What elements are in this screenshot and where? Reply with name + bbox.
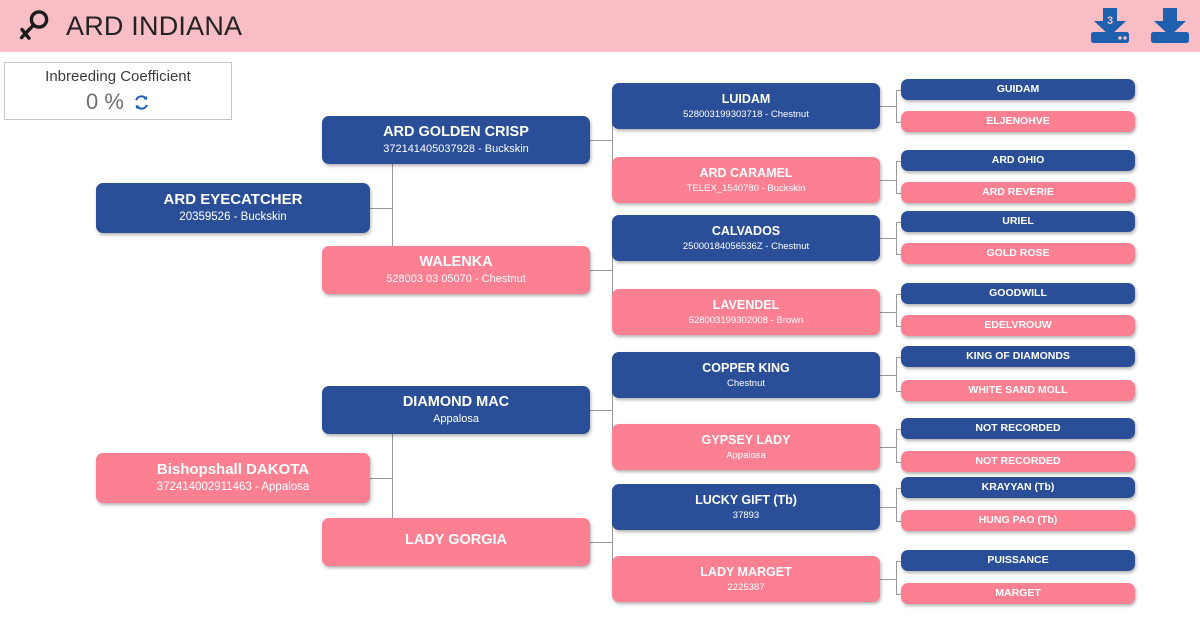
pedigree-node-g3-6[interactable]: LUCKY GIFT (Tb) 37893: [612, 484, 880, 530]
node-detail: 25000184056536Z - Chestnut: [683, 241, 809, 252]
page-header: ARD INDIANA 3: [0, 0, 1200, 52]
pedigree-node-g4-6[interactable]: GOODWILL: [901, 283, 1135, 304]
node-detail: 372414002911463 - Appalosa: [157, 481, 310, 495]
node-detail: 372141405037928 - Buckskin: [383, 143, 529, 156]
inbreeding-label: Inbreeding Coefficient: [45, 69, 191, 84]
pedigree-node-g2-3[interactable]: LADY GORGIA: [322, 518, 590, 566]
node-name: GYPSEY LADY: [702, 433, 791, 447]
pedigree-node-g2-1[interactable]: WALENKA 528003 03 05070 - Chestnut: [322, 246, 590, 294]
node-name: ELJENOHVE: [986, 115, 1050, 127]
female-symbol-icon: [18, 8, 54, 44]
node-name: LADY GORGIA: [405, 532, 507, 549]
pedigree-node-g3-0[interactable]: LUIDAM 528003199303718 - Chestnut: [612, 83, 880, 129]
pedigree-node-g4-0[interactable]: GUIDAM: [901, 79, 1135, 100]
node-name: KING OF DIAMONDS: [966, 350, 1070, 362]
pedigree-node-g4-12[interactable]: KRAYYAN (Tb): [901, 477, 1135, 498]
download-icon[interactable]: 3: [1084, 4, 1136, 48]
node-detail: Chestnut: [727, 378, 765, 389]
header-actions: 3: [1084, 4, 1196, 48]
pedigree-node-g3-1[interactable]: ARD CARAMEL TELEX_1540780 - Buckskin: [612, 157, 880, 203]
pedigree-node-g3-4[interactable]: COPPER KING Chestnut: [612, 352, 880, 398]
node-name: WHITE SAND MOLL: [968, 384, 1067, 396]
node-name: ARD GOLDEN CRISP: [383, 124, 529, 141]
node-name: Bishopshall DAKOTA: [157, 461, 309, 478]
pedigree-node-g4-1[interactable]: ELJENOHVE: [901, 111, 1135, 132]
pedigree-node-g4-2[interactable]: ARD OHIO: [901, 150, 1135, 171]
node-name: NOT RECORDED: [975, 422, 1060, 434]
node-name: ARD CARAMEL: [699, 166, 792, 180]
node-name: HUNG PAO (Tb): [979, 514, 1058, 526]
inbreeding-value-row: 0 %: [86, 91, 150, 113]
node-name: ARD REVERIE: [982, 186, 1054, 198]
pedigree-node-g4-3[interactable]: ARD REVERIE: [901, 182, 1135, 203]
pedigree-node-g4-14[interactable]: PUISSANCE: [901, 550, 1135, 571]
node-name: ARD EYECATCHER: [164, 191, 303, 208]
node-name: NOT RECORDED: [975, 455, 1060, 467]
pedigree-node-g2-2[interactable]: DIAMOND MAC Appalosa: [322, 386, 590, 434]
node-name: KRAYYAN (Tb): [982, 481, 1055, 493]
node-name: GUIDAM: [997, 83, 1040, 95]
pedigree-node-g4-4[interactable]: URIEL: [901, 211, 1135, 232]
node-detail: 528003199302008 - Brown: [689, 315, 804, 326]
inbreeding-coefficient-panel: Inbreeding Coefficient 0 %: [4, 62, 232, 120]
node-detail: Appalosa: [726, 450, 766, 461]
node-detail: 20359526 - Buckskin: [179, 211, 286, 225]
node-detail: 37893: [733, 510, 759, 521]
node-name: LADY MARGET: [700, 565, 791, 579]
page-title: ARD INDIANA: [66, 11, 242, 42]
node-detail: TELEX_1540780 - Buckskin: [687, 183, 806, 194]
node-detail: 528003 03 05070 - Chestnut: [386, 273, 525, 286]
pedigree-node-g4-5[interactable]: GOLD ROSE: [901, 243, 1135, 264]
node-name: CALVADOS: [712, 224, 780, 238]
pedigree-node-g1-sire[interactable]: ARD EYECATCHER 20359526 - Buckskin: [96, 183, 370, 233]
node-name: EDELVROUW: [984, 319, 1051, 331]
pedigree-node-g4-7[interactable]: EDELVROUW: [901, 315, 1135, 336]
node-detail: 528003199303718 - Chestnut: [683, 109, 809, 120]
pedigree-node-g4-13[interactable]: HUNG PAO (Tb): [901, 510, 1135, 531]
inbreeding-value: 0 %: [86, 91, 124, 113]
pedigree-node-g3-3[interactable]: LAVENDEL 528003199302008 - Brown: [612, 289, 880, 335]
pedigree-node-g4-8[interactable]: KING OF DIAMONDS: [901, 346, 1135, 367]
pedigree-node-g3-5[interactable]: GYPSEY LADY Appalosa: [612, 424, 880, 470]
node-name: COPPER KING: [702, 361, 790, 375]
node-name: LUIDAM: [722, 92, 771, 106]
node-name: MARGET: [995, 587, 1041, 599]
pedigree-node-g3-7[interactable]: LADY MARGET 2225387: [612, 556, 880, 602]
pedigree-page: ARD INDIANA 3 Inbreeding Coefficien: [0, 0, 1200, 620]
download-all-icon[interactable]: [1144, 4, 1196, 48]
download-badge-count: 3: [1107, 15, 1113, 27]
node-name: WALENKA: [419, 254, 492, 271]
pedigree-node-g4-11[interactable]: NOT RECORDED: [901, 451, 1135, 472]
pedigree-node-g3-2[interactable]: CALVADOS 25000184056536Z - Chestnut: [612, 215, 880, 261]
pedigree-node-g4-10[interactable]: NOT RECORDED: [901, 418, 1135, 439]
node-detail: Appalosa: [433, 413, 479, 426]
node-name: GOLD ROSE: [986, 247, 1049, 259]
refresh-icon[interactable]: [133, 94, 150, 111]
pedigree-node-g4-15[interactable]: MARGET: [901, 583, 1135, 604]
node-detail: 2225387: [728, 582, 765, 593]
node-name: GOODWILL: [989, 287, 1047, 299]
pedigree-node-g2-0[interactable]: ARD GOLDEN CRISP 372141405037928 - Bucks…: [322, 116, 590, 164]
pedigree-node-g4-9[interactable]: WHITE SAND MOLL: [901, 380, 1135, 401]
node-name: URIEL: [1002, 215, 1034, 227]
node-name: ARD OHIO: [992, 154, 1045, 166]
pedigree-node-g1-dam[interactable]: Bishopshall DAKOTA 372414002911463 - App…: [96, 453, 370, 503]
node-name: DIAMOND MAC: [403, 394, 509, 411]
node-name: PUISSANCE: [987, 554, 1048, 566]
node-name: LAVENDEL: [713, 298, 779, 312]
node-name: LUCKY GIFT (Tb): [695, 493, 797, 507]
